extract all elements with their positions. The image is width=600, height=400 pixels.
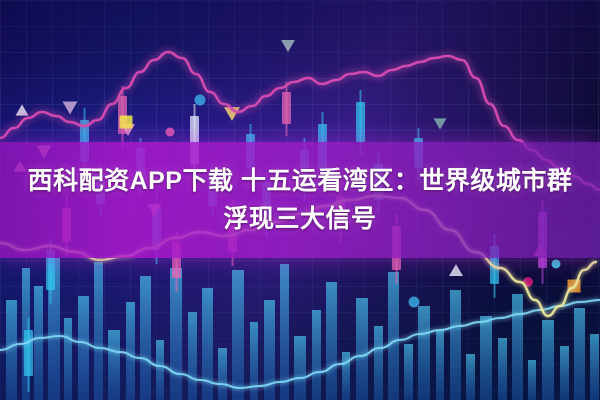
volume-bar [94, 262, 103, 400]
candlestick-body [282, 92, 291, 124]
volume-bar [34, 286, 43, 400]
candlestick-body [24, 330, 33, 376]
chart-marker-circle [166, 128, 175, 137]
chart-marker-circle [195, 95, 206, 106]
chart-marker-circle [409, 297, 420, 308]
volume-bar [232, 270, 244, 400]
volume-bar [156, 340, 164, 400]
candlestick-body [356, 102, 365, 142]
volume-bar [250, 322, 258, 400]
chart-marker-circle [552, 260, 561, 269]
volume-bar [280, 264, 289, 400]
volume-bar [356, 298, 368, 400]
volume-bar [560, 346, 569, 400]
volume-bar [498, 338, 507, 400]
volume-bar [388, 272, 399, 400]
volume-bar [218, 348, 227, 400]
volume-bar [64, 318, 72, 400]
headline-line-1: 西科配资APP下载 十五运看湾区：世界级城市群 [28, 162, 573, 200]
volume-bar [480, 316, 492, 400]
volume-bar [312, 310, 321, 400]
volume-bar [590, 334, 599, 400]
volume-bar [108, 330, 120, 400]
volume-bar [466, 354, 475, 400]
volume-bar [450, 290, 461, 400]
volume-bar [188, 312, 197, 400]
volume-bar [404, 344, 413, 400]
volume-bar [528, 360, 536, 400]
headline-band: 西科配资APP下载 十五运看湾区：世界级城市群 浮现三大信号 [0, 142, 600, 258]
chart-marker-square [120, 116, 133, 129]
headline-line-2: 浮现三大信号 [223, 200, 376, 238]
volume-bar [542, 320, 554, 400]
volume-bar [574, 308, 585, 400]
volume-bar [418, 306, 430, 400]
volume-bar [294, 336, 306, 400]
volume-bar [6, 300, 17, 400]
volume-bar [126, 302, 135, 400]
volume-bar [436, 330, 444, 400]
volume-bar [140, 276, 151, 400]
banner-image: 西科配资APP下载 十五运看湾区：世界级城市群 浮现三大信号 [0, 0, 600, 400]
volume-bar [374, 326, 383, 400]
volume-bar [342, 352, 350, 400]
volume-bar [326, 282, 337, 400]
volume-bar [78, 296, 89, 400]
volume-bar [512, 294, 523, 400]
